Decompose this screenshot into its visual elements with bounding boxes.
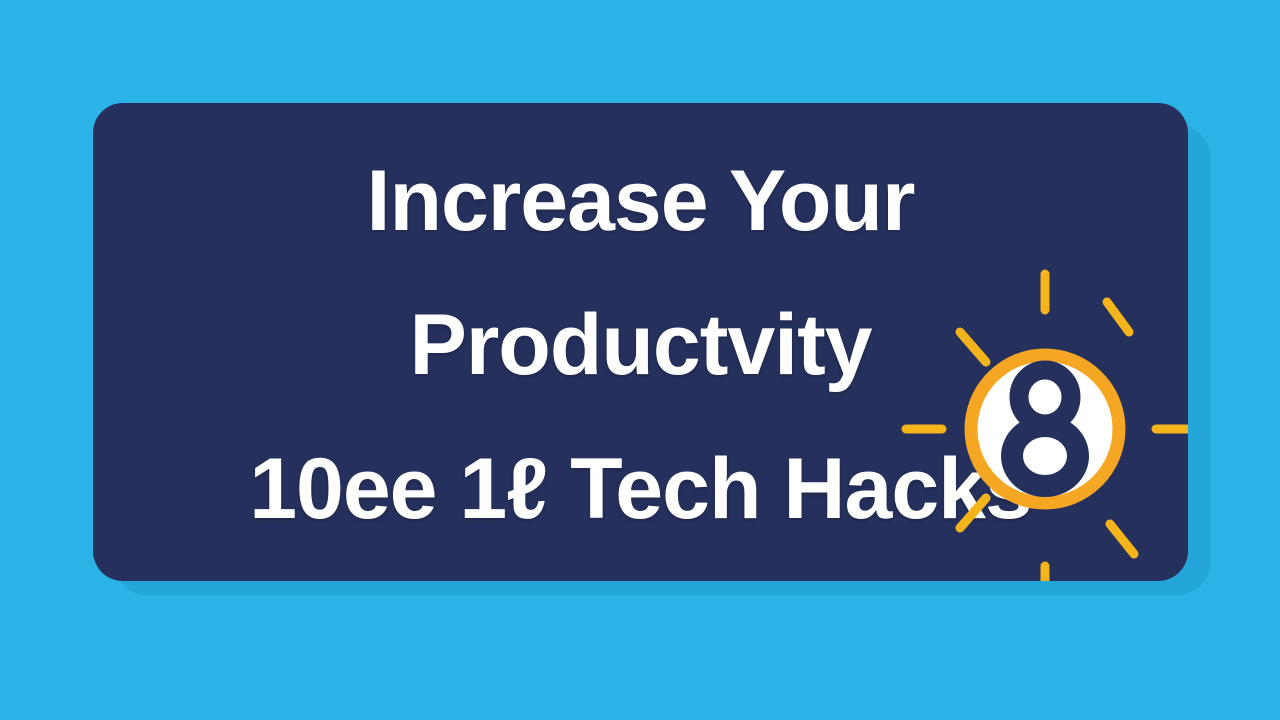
headline-line-2: Productvity	[93, 273, 1188, 417]
slide-canvas: Increase Your Productvity 10ee 1ℓ Tech H…	[0, 0, 1280, 720]
headline-line-1: Increase Your	[93, 129, 1188, 273]
headline-block: Increase Your Productvity 10ee 1ℓ Tech H…	[93, 129, 1188, 561]
title-card: Increase Your Productvity 10ee 1ℓ Tech H…	[93, 103, 1188, 581]
headline-line-3: 10ee 1ℓ Tech Hacks	[93, 417, 1188, 561]
